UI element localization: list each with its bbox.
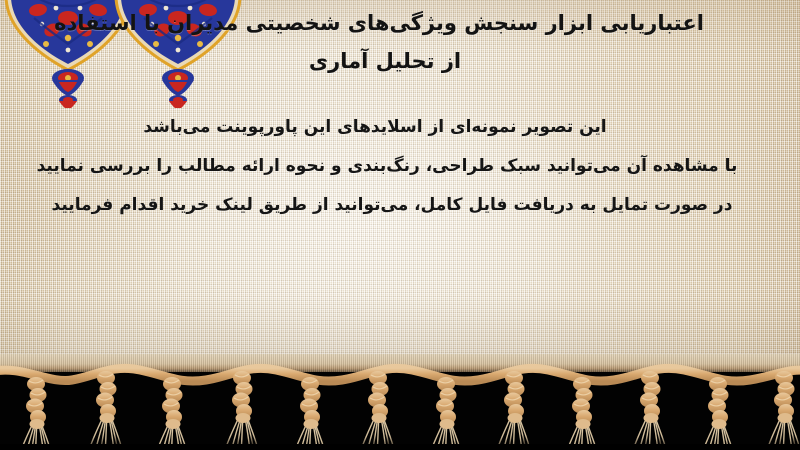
tassel	[565, 377, 598, 450]
tassel	[155, 377, 188, 450]
tassel	[497, 371, 530, 450]
title-line-2: از تحلیل آماری	[0, 42, 800, 80]
body-line-3: در صورت تمایل به دریافت فایل کامل، می‌تو…	[0, 186, 800, 225]
fringe-tassels-svg	[0, 358, 800, 450]
tassel	[429, 377, 462, 450]
tassel	[19, 377, 52, 450]
title-line-1: اعتباریابی ابزار سنجش ویژگی‌های شخصیتی م…	[0, 4, 800, 42]
tassel	[361, 371, 394, 450]
slide-bottom-edge	[0, 444, 800, 450]
body-line-1: این تصویر نمونه‌ای از اسلایدهای این پاور…	[0, 108, 800, 147]
presentation-slide: اعتباریابی ابزار سنجش ویژگی‌های شخصیتی م…	[0, 0, 800, 450]
tassel	[225, 371, 258, 450]
fringe-rope	[0, 368, 800, 381]
tassel	[293, 377, 326, 450]
tassel	[89, 371, 122, 450]
slide-title: اعتباریابی ابزار سنجش ویژگی‌های شخصیتی م…	[0, 4, 800, 80]
slide-body: این تصویر نمونه‌ای از اسلایدهای این پاور…	[0, 108, 800, 225]
tassel	[633, 371, 666, 450]
body-line-2: با مشاهده آن می‌توانید سبک طراحی، رنگ‌بن…	[0, 147, 800, 186]
tassel	[701, 377, 734, 450]
tassel	[767, 371, 800, 450]
carpet-fringe-region	[0, 354, 800, 450]
